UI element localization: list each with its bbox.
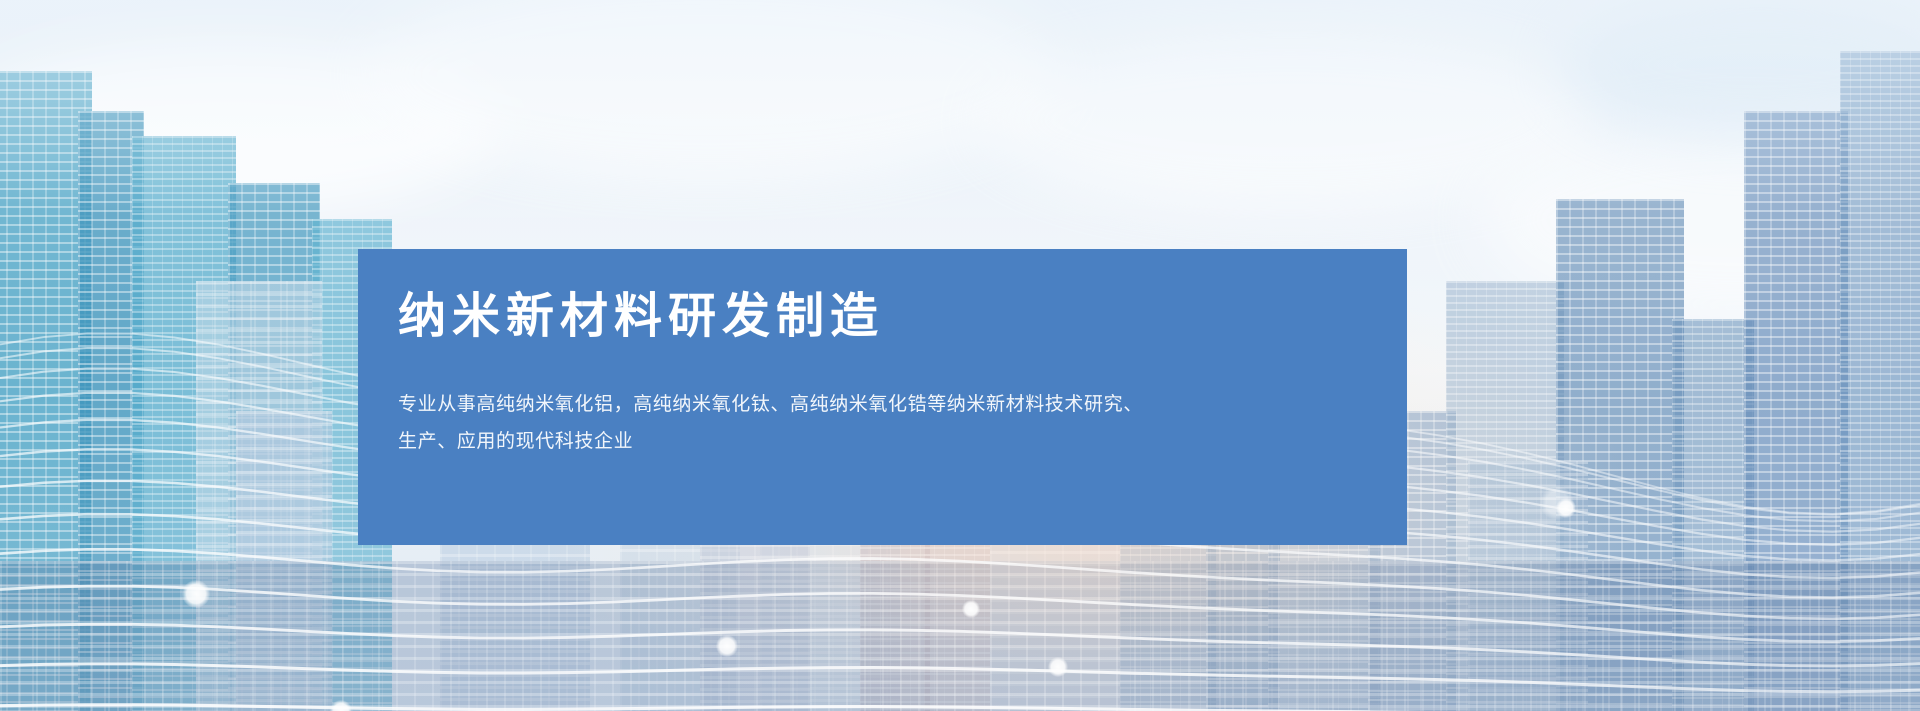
hero-description-line: 专业从事高纯纳米氧化铝，高纯纳米氧化钛、高纯纳米氧化锆等纳米新材料技术研究、 [398,386,1198,423]
hero-banner: 纳米新材料研发制造 专业从事高纯纳米氧化铝，高纯纳米氧化钛、高纯纳米氧化锆等纳米… [0,0,1920,711]
hero-description: 专业从事高纯纳米氧化铝，高纯纳米氧化钛、高纯纳米氧化锆等纳米新材料技术研究、 生… [398,386,1198,460]
hero-text-card: 纳米新材料研发制造 专业从事高纯纳米氧化铝，高纯纳米氧化钛、高纯纳米氧化锆等纳米… [358,249,1407,545]
hero-description-line: 生产、应用的现代科技企业 [398,423,1198,460]
page-title: 纳米新材料研发制造 [398,289,1407,346]
